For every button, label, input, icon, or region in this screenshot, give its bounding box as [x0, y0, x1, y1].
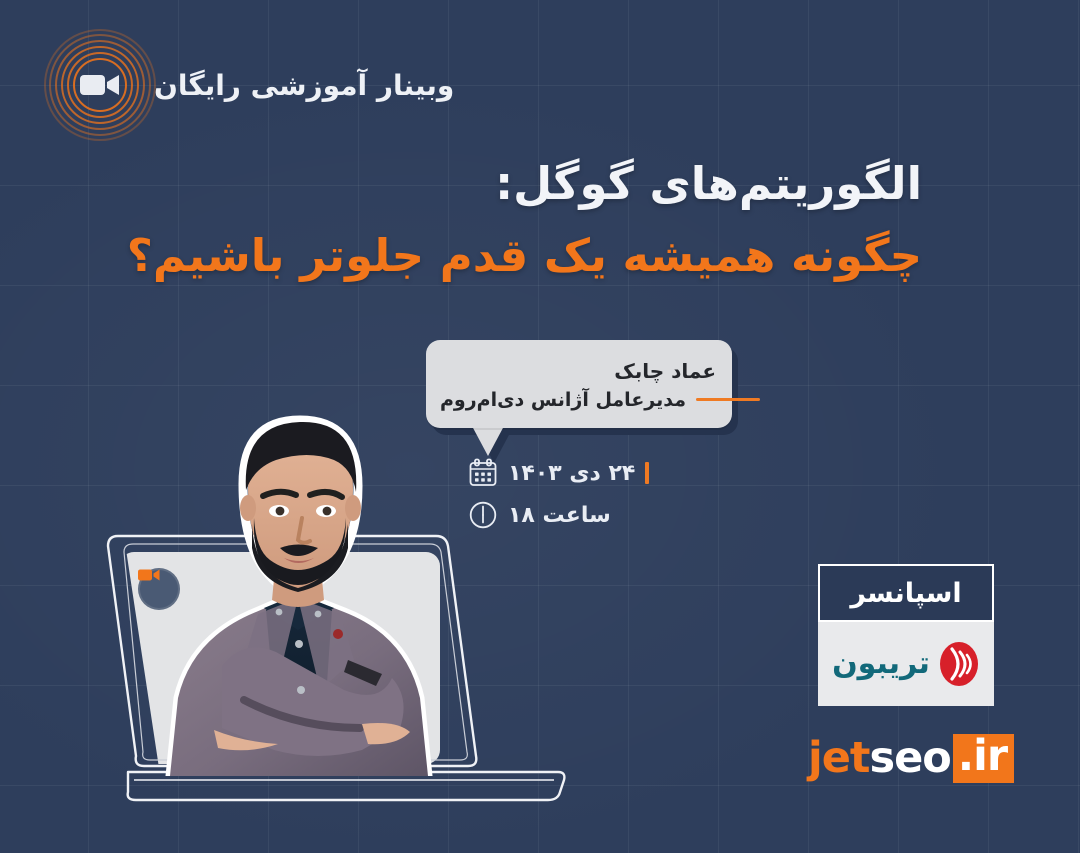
- sponsor-title-box: اسپانسر: [818, 564, 994, 622]
- headline-line-1: الگوریتم‌های گوگل:: [122, 156, 922, 212]
- jetseo-logo-jet: jet: [808, 733, 869, 783]
- presenter-photo: [148, 398, 468, 776]
- webinar-banner: وبینار آموزشی رایگان الگوریتم‌های گوگل: …: [0, 0, 1080, 853]
- speaker-role-row: مدیرعامل آژانس دی‌ام‌روم: [440, 389, 716, 411]
- presenter-figure: [148, 398, 468, 776]
- sponsor-brand-name: تریبون: [832, 649, 930, 679]
- webinar-badge-label: وبینار آموزشی رایگان: [154, 69, 454, 102]
- event-date: ۲۴ دی ۱۴۰۳: [508, 461, 635, 486]
- jetseo-logo[interactable]: jet seo .ir: [808, 734, 1014, 782]
- headline: الگوریتم‌های گوگل: چگونه همیشه یک قدم جل…: [122, 156, 922, 285]
- speech-bubble: عماد چابک مدیرعامل آژانس دی‌ام‌روم: [426, 340, 732, 428]
- sound-waves-icon: [938, 640, 980, 688]
- event-date-row: ۲۴ دی ۱۴۰۳: [468, 458, 653, 488]
- speaker-name: عماد چابک: [440, 358, 716, 385]
- jetseo-logo-seo: seo: [869, 733, 950, 783]
- sponsor-title: اسپانسر: [850, 580, 961, 607]
- speaker-role: مدیرعامل آژانس دی‌ام‌روم: [440, 389, 686, 411]
- video-camera-icon: [80, 72, 120, 98]
- sponsor-brand-box: تریبون: [818, 622, 994, 706]
- speech-bubble-tail: [472, 426, 504, 456]
- jetseo-logo-tld: .ir: [953, 734, 1014, 783]
- calendar-icon: [468, 458, 498, 488]
- date-accent-bar: [645, 462, 649, 484]
- speaker-rule-divider: [696, 398, 760, 401]
- event-meta: ۲۴ دی ۱۴۰۳ ساعت ۱۸: [468, 458, 728, 530]
- speaker-card: عماد چابک مدیرعامل آژانس دی‌ام‌روم: [426, 340, 746, 452]
- headline-line-2: چگونه همیشه یک قدم جلوتر باشیم؟: [122, 228, 922, 284]
- sponsor-card: اسپانسر تریبون: [818, 564, 994, 706]
- camera-rings-logo: [46, 31, 154, 139]
- webinar-badge: وبینار آموزشی رایگان: [46, 30, 406, 140]
